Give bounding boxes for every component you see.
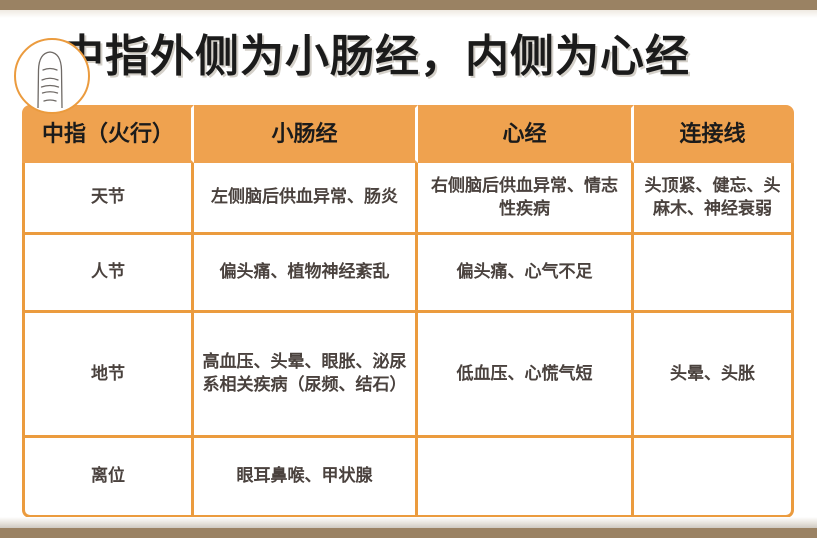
cell-liwei-heart (418, 438, 634, 518)
cell-liwei-connection (634, 438, 794, 518)
cell-tianjie-heart: 右侧脑后供血异常、情志性疾病 (418, 163, 634, 235)
cell-renjie-connection (634, 235, 794, 313)
column-header-heart: 心经 (418, 105, 634, 163)
cell-dijie-connection: 头晕、头胀 (634, 313, 794, 438)
table-row: 离位 眼耳鼻喉、甲状腺 (22, 438, 794, 518)
cell-dijie-small-intestine: 高血压、头晕、眼胀、泌尿系相关疾病（尿频、结石） (194, 313, 418, 438)
row-label-tianjie: 天节 (22, 163, 194, 235)
cell-tianjie-connection: 头顶紧、健忘、头麻木、神经衰弱 (634, 163, 794, 235)
title-area: 中指外侧为小肠经，内侧为心经 (0, 18, 817, 98)
meridian-table: 中指（火行） 小肠经 心经 连接线 天节 左侧脑后供血异常、肠炎 右侧脑后供血异… (22, 105, 794, 518)
cell-liwei-small-intestine: 眼耳鼻喉、甲状腺 (194, 438, 418, 518)
row-label-liwei: 离位 (22, 438, 194, 518)
finger-tip-icon (14, 38, 90, 114)
cell-dijie-heart: 低血压、心慌气短 (418, 313, 634, 438)
row-label-renjie: 人节 (22, 235, 194, 313)
table-row: 人节 偏头痛、植物神经紊乱 偏头痛、心气不足 (22, 235, 794, 313)
table-row: 天节 左侧脑后供血异常、肠炎 右侧脑后供血异常、情志性疾病 头顶紧、健忘、头麻木… (22, 163, 794, 235)
top-sheen-strip (0, 10, 817, 18)
bottom-sheen-strip (0, 517, 817, 528)
row-label-dijie: 地节 (22, 313, 194, 438)
bottom-chrome-bar (0, 528, 817, 538)
column-header-small-intestine: 小肠经 (194, 105, 418, 163)
cell-renjie-heart: 偏头痛、心气不足 (418, 235, 634, 313)
table-header-row: 中指（火行） 小肠经 心经 连接线 (22, 105, 794, 163)
cell-renjie-small-intestine: 偏头痛、植物神经紊乱 (194, 235, 418, 313)
page-title: 中指外侧为小肠经，内侧为心经 (60, 28, 690, 86)
top-chrome-bar (0, 0, 817, 10)
column-header-connection: 连接线 (634, 105, 794, 163)
table-row: 地节 高血压、头晕、眼胀、泌尿系相关疾病（尿频、结石） 低血压、心慌气短 头晕、… (22, 313, 794, 438)
cell-tianjie-small-intestine: 左侧脑后供血异常、肠炎 (194, 163, 418, 235)
